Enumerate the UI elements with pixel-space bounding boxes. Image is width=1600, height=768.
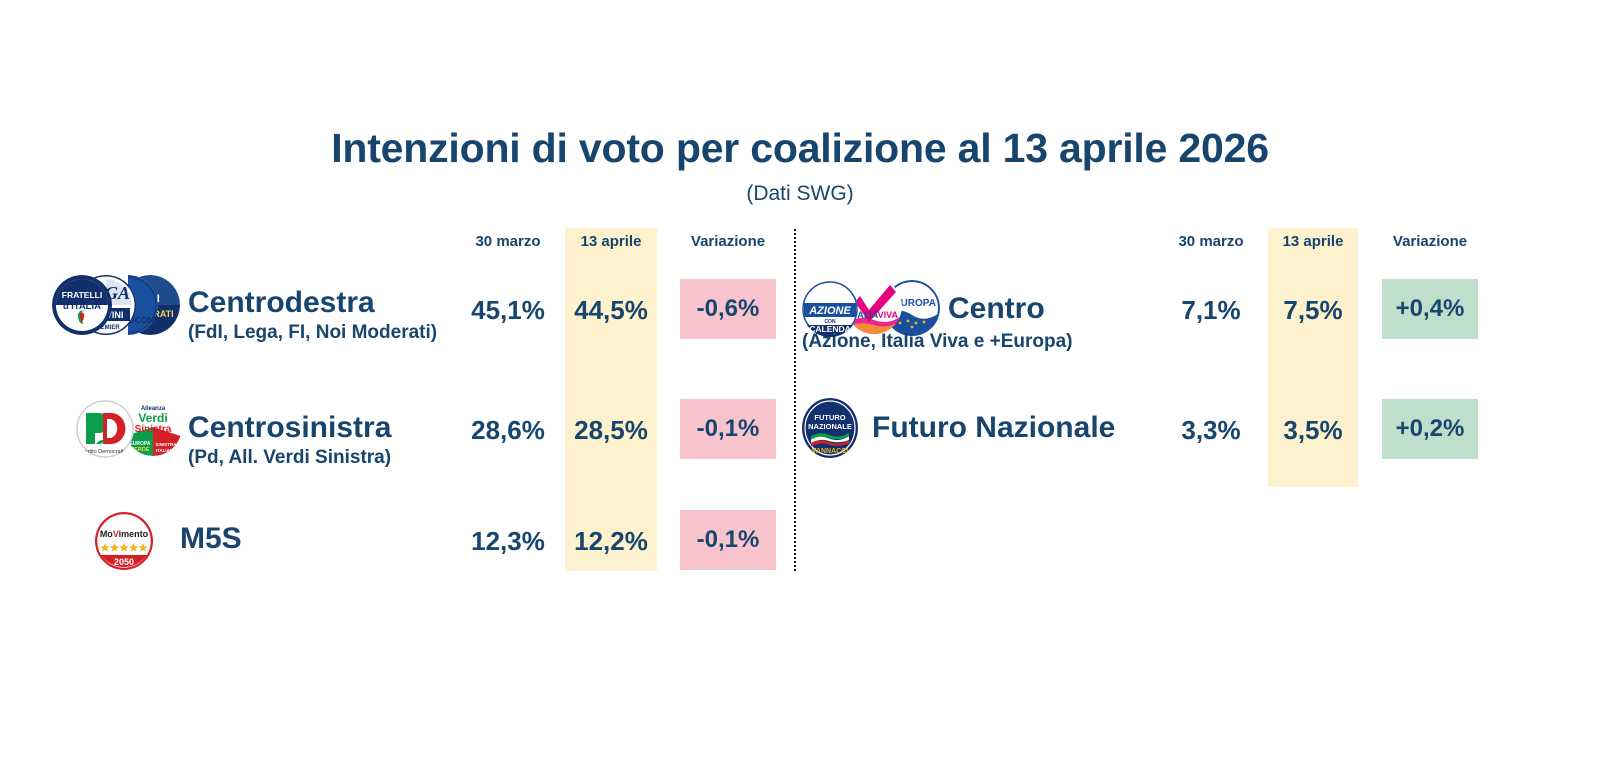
svg-text:Sinistra: Sinistra bbox=[135, 424, 172, 435]
header-current-right: 13 aprile bbox=[1268, 233, 1358, 250]
coalition-name: Futuro Nazionale bbox=[872, 413, 1115, 443]
pd-logo: Partito Democratico bbox=[76, 400, 134, 458]
highlight-band-right bbox=[1268, 228, 1358, 487]
header-previous-left: 30 marzo bbox=[455, 233, 561, 250]
coalition-logos: Alleanza Verdi Sinistra EUROPA VERDE SIN… bbox=[76, 398, 186, 460]
value-previous: 45,1% bbox=[455, 295, 561, 326]
fdi-logo: FRATELLI d'ITALIA bbox=[52, 275, 112, 335]
svg-text:VERDE: VERDE bbox=[131, 447, 150, 453]
header-current-left: 13 aprile bbox=[565, 233, 657, 250]
poll-infographic: Intenzioni di voto per coalizione al 13 … bbox=[0, 0, 1600, 768]
coalition-logos: FUTURO NAZIONALE VANNACCI bbox=[800, 398, 864, 460]
value-current: 3,5% bbox=[1268, 415, 1358, 446]
header-previous-right: 30 marzo bbox=[1158, 233, 1264, 250]
svg-text:Partito Democratico: Partito Democratico bbox=[81, 449, 129, 455]
svg-text:d'ITALIA: d'ITALIA bbox=[63, 301, 101, 312]
value-current: 44,5% bbox=[565, 295, 657, 326]
status-badge: -0,1% bbox=[680, 399, 776, 459]
value-current: 12,2% bbox=[565, 526, 657, 557]
coalition-name: Centro bbox=[948, 294, 1045, 324]
azione-logo: AZIONE CON CALENDA bbox=[802, 281, 858, 337]
svg-text:MoVimento: MoVimento bbox=[100, 529, 149, 539]
svg-text:FUTURO: FUTURO bbox=[814, 413, 845, 422]
header-change-left: Variazione bbox=[666, 233, 790, 250]
status-badge: +0,4% bbox=[1382, 279, 1478, 339]
svg-text:NAZIONALE: NAZIONALE bbox=[808, 422, 852, 431]
coalition-subtitle: (Azione, Italia Viva e +Europa) bbox=[802, 332, 1072, 351]
coalition-name: Centrosinistra bbox=[188, 413, 391, 443]
coalition-logos: NOI MODERATI BERLUSCONI bbox=[52, 272, 180, 338]
svg-text:2050: 2050 bbox=[114, 557, 134, 567]
value-current: 28,5% bbox=[565, 415, 657, 446]
coalition-subtitle: (Pd, All. Verdi Sinistra) bbox=[188, 448, 391, 467]
value-previous: 7,1% bbox=[1158, 295, 1264, 326]
coalition-logos: MoVimento 2050 bbox=[95, 512, 157, 570]
svg-text:SINISTRA: SINISTRA bbox=[155, 442, 177, 447]
vertical-divider bbox=[794, 229, 796, 571]
coalition-name: Centrodestra bbox=[188, 288, 375, 318]
svg-text:ITALIANA: ITALIANA bbox=[156, 448, 177, 453]
value-previous: 28,6% bbox=[455, 415, 561, 446]
m5s-logo: MoVimento 2050 bbox=[95, 512, 153, 570]
coalition-name: M5S bbox=[180, 524, 242, 554]
status-badge: -0,6% bbox=[680, 279, 776, 339]
value-current: 7,5% bbox=[1268, 295, 1358, 326]
header-change-right: Variazione bbox=[1368, 233, 1492, 250]
status-badge: -0,1% bbox=[680, 510, 776, 570]
coalition-subtitle: (FdI, Lega, FI, Noi Moderati) bbox=[188, 323, 437, 342]
highlight-band-left bbox=[565, 228, 657, 571]
svg-text:Verdi: Verdi bbox=[138, 411, 167, 425]
value-previous: 12,3% bbox=[455, 526, 561, 557]
status-badge: +0,2% bbox=[1382, 399, 1478, 459]
page-title: Intenzioni di voto per coalizione al 13 … bbox=[0, 125, 1600, 172]
svg-text:AZIONE: AZIONE bbox=[808, 305, 851, 317]
page-subtitle: (Dati SWG) bbox=[0, 182, 1600, 206]
futuro-nazionale-logo: FUTURO NAZIONALE VANNACCI bbox=[800, 398, 860, 458]
svg-text:VANNACCI: VANNACCI bbox=[812, 448, 848, 455]
svg-text:FRATELLI: FRATELLI bbox=[62, 290, 102, 300]
value-previous: 3,3% bbox=[1158, 415, 1264, 446]
